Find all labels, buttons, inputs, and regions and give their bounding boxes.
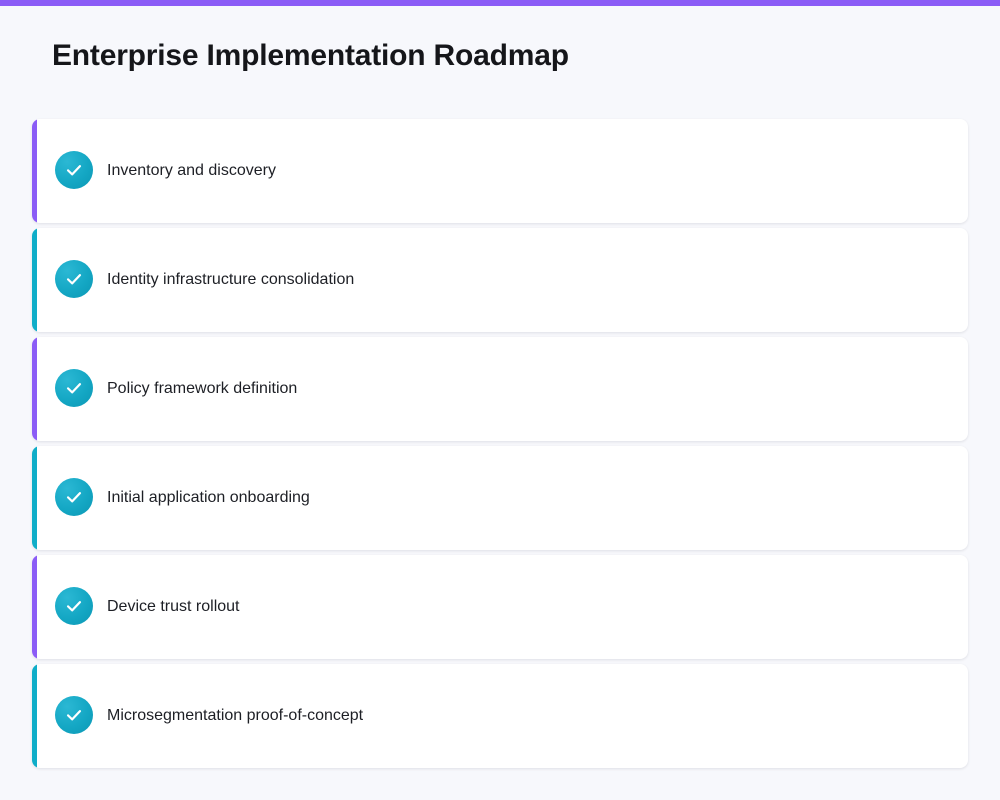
check-circle-icon <box>55 696 93 734</box>
milestone-accent-bar <box>32 228 37 332</box>
milestone-card[interactable]: Device trust rollout <box>32 555 968 659</box>
milestone-label: Identity infrastructure consolidation <box>107 228 354 332</box>
milestone-accent-bar <box>32 337 37 441</box>
milestone-card[interactable]: Initial application onboarding <box>32 446 968 550</box>
milestone-label: Initial application onboarding <box>107 446 310 550</box>
milestone-accent-bar <box>32 446 37 550</box>
milestone-accent-bar <box>32 555 37 659</box>
check-circle-icon <box>55 151 93 189</box>
check-circle-icon <box>55 369 93 407</box>
milestone-label: Inventory and discovery <box>107 119 276 223</box>
roadmap-milestone-list: Inventory and discovery Identity infrast… <box>32 119 968 773</box>
milestone-accent-bar <box>32 664 37 768</box>
milestone-card[interactable]: Identity infrastructure consolidation <box>32 228 968 332</box>
milestone-label: Microsegmentation proof-of-concept <box>107 664 363 768</box>
page-title: Enterprise Implementation Roadmap <box>52 36 569 76</box>
roadmap-page: Enterprise Implementation Roadmap Invent… <box>0 6 1000 800</box>
milestone-label: Device trust rollout <box>107 555 240 659</box>
milestone-card[interactable]: Inventory and discovery <box>32 119 968 223</box>
check-circle-icon <box>55 260 93 298</box>
milestone-card[interactable]: Policy framework definition <box>32 337 968 441</box>
milestone-accent-bar <box>32 119 37 223</box>
milestone-label: Policy framework definition <box>107 337 297 441</box>
milestone-card[interactable]: Microsegmentation proof-of-concept <box>32 664 968 768</box>
check-circle-icon <box>55 587 93 625</box>
check-circle-icon <box>55 478 93 516</box>
